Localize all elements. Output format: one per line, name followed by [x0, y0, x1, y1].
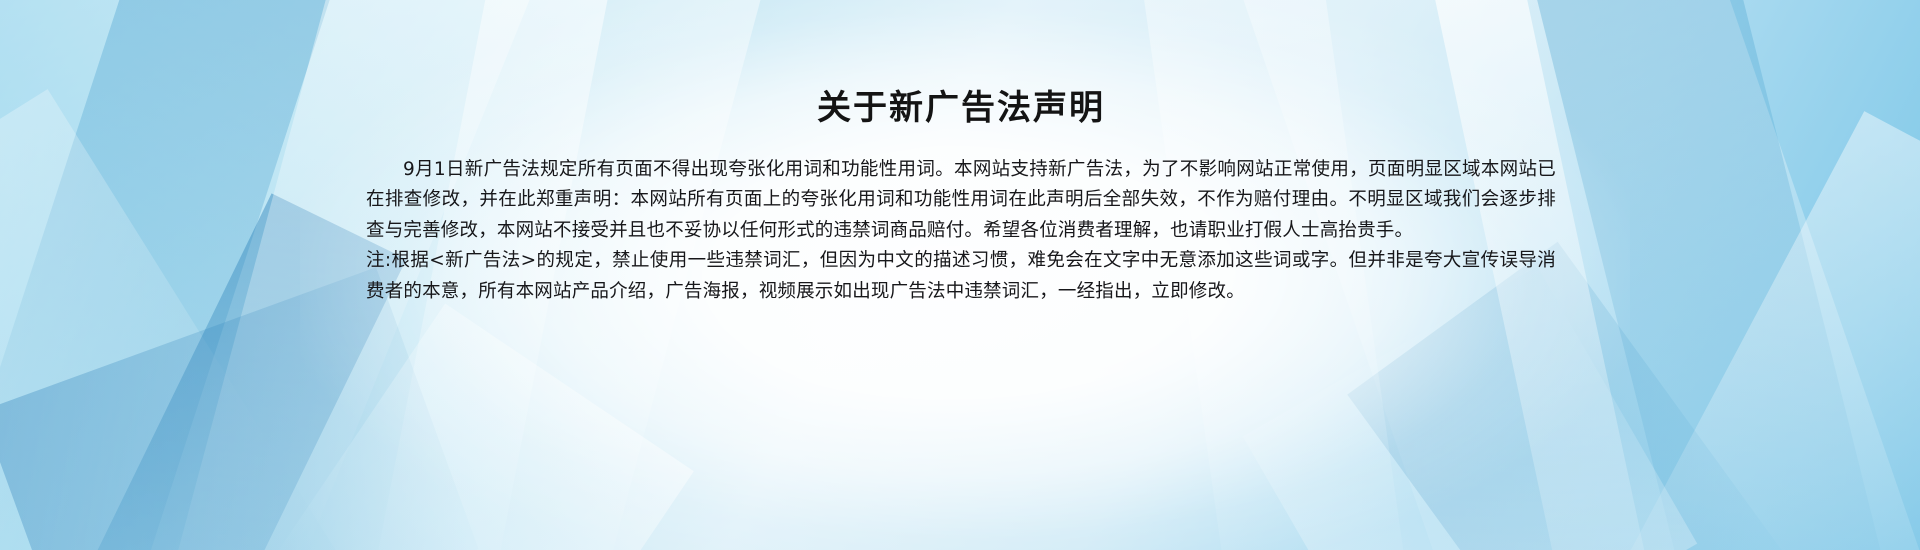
background-shard-3: [0, 89, 387, 550]
statement-paragraph-note: 注:根据<新广告法>的规定，禁止使用一些违禁词汇，但因为中文的描述习惯，难免会在…: [366, 246, 1556, 307]
background-shard-4: [44, 193, 407, 550]
advertising-law-statement-banner: 关于新广告法声明 9月1日新广告法规定所有页面不得出现夸张化用词和功能性用词。本…: [0, 0, 1920, 550]
statement-paragraph-main: 9月1日新广告法规定所有页面不得出现夸张化用词和功能性用词。本网站支持新广告法，…: [366, 155, 1556, 247]
page-title: 关于新广告法声明: [366, 88, 1556, 129]
background-shard-8: [1507, 0, 1920, 550]
background-shard-9: [1573, 111, 1920, 550]
background-shard-2: [0, 0, 390, 550]
statement-body: 9月1日新广告法规定所有页面不得出现夸张化用词和功能性用词。本网站支持新广告法，…: [366, 155, 1556, 308]
statement-content: 关于新广告法声明 9月1日新广告法规定所有页面不得出现夸张化用词和功能性用词。本…: [366, 0, 1556, 550]
